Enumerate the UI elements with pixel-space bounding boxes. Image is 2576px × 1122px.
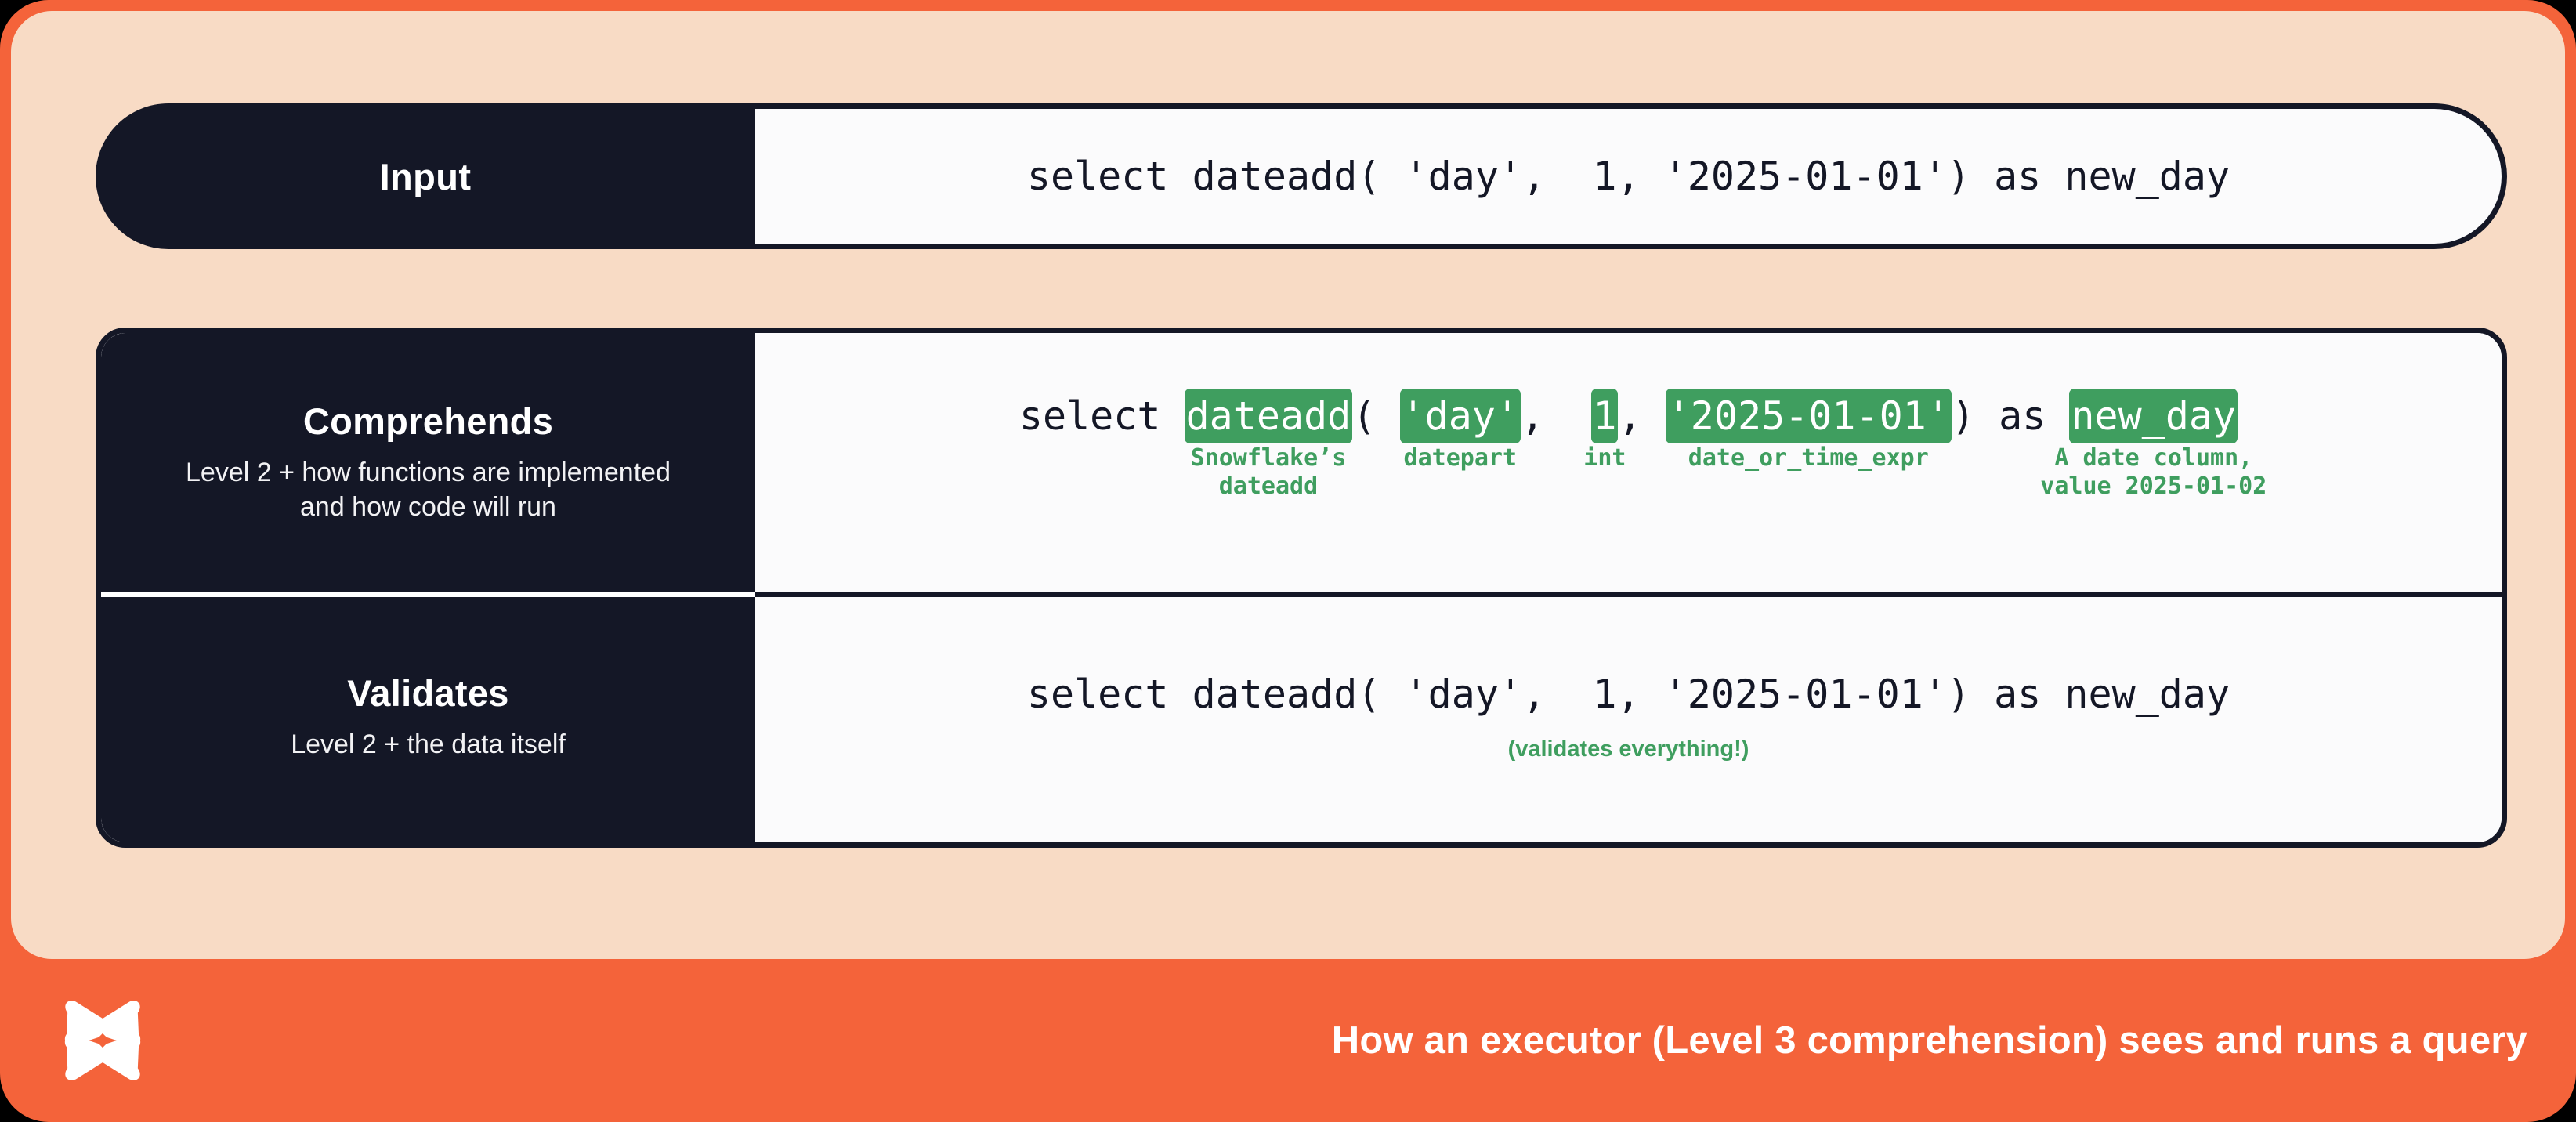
slide-root: Input select dateadd( 'day', 1, '2025-01… (0, 0, 2576, 1122)
x-mark-logo-icon (56, 994, 149, 1087)
comprehends-annotations: Snowflake’sdateadddatepartintdate_or_tim… (755, 444, 2502, 532)
code-token-9: new_day (2069, 389, 2238, 443)
input-row: Input select dateadd( 'day', 1, '2025-01… (96, 103, 2507, 249)
code-token-6: , (1618, 393, 1665, 439)
comprehends-title: Comprehends (303, 400, 553, 443)
comprehends-sublabel: Level 2 + how functions are implemented … (186, 456, 671, 524)
footer-bar: How an executor (Level 3 comprehension) … (0, 959, 2576, 1122)
row-divider (101, 592, 2502, 597)
comprehends-sublabel-line2: and how code will run (300, 492, 556, 522)
code-token-8: ) as (1952, 393, 2070, 439)
annotation-4-line2: value 2025-01-02 (2040, 472, 2267, 501)
comprehends-code: select dateadd( 'day', 1, '2025-01-01') … (1019, 393, 2238, 440)
input-row-code: select dateadd( 'day', 1, '2025-01-01') … (1027, 154, 2230, 200)
annotation-0-line1: Snowflake’s (1191, 444, 1347, 472)
input-row-label-cell: Input (96, 103, 755, 249)
input-row-title: Input (380, 155, 472, 198)
orange-frame: Input select dateadd( 'day', 1, '2025-01… (0, 0, 2576, 1122)
levels-rows: Comprehends Level 2 + how functions are … (101, 333, 2502, 842)
annotation-2: int (1583, 444, 1626, 472)
levels-card: Comprehends Level 2 + how functions are … (96, 328, 2507, 848)
validates-note: (validates everything!) (1508, 737, 1749, 762)
code-token-3: 'day' (1400, 389, 1521, 443)
input-row-code-cell: select dateadd( 'day', 1, '2025-01-01') … (755, 103, 2507, 249)
annotation-0-line2: dateadd (1191, 472, 1347, 501)
row-divider-right (755, 592, 2502, 597)
validates-sublabel: Level 2 + the data itself (291, 728, 566, 762)
code-token-4: , (1521, 393, 1591, 439)
validates-code-cell: select dateadd( 'day', 1, '2025-01-01') … (755, 592, 2502, 842)
comprehends-row: Comprehends Level 2 + how functions are … (101, 333, 2502, 592)
validates-title: Validates (347, 671, 509, 715)
content-panel: Input select dateadd( 'day', 1, '2025-01… (11, 11, 2565, 959)
validates-label-cell: Validates Level 2 + the data itself (101, 592, 755, 842)
levels-card-border: Comprehends Level 2 + how functions are … (96, 328, 2507, 848)
annotation-3: date_or_time_expr (1688, 444, 1929, 472)
code-token-7: '2025-01-01' (1666, 389, 1952, 443)
annotation-1: datepart (1404, 444, 1518, 472)
annotation-4-line1: A date column, (2040, 444, 2267, 472)
code-token-1: dateadd (1185, 389, 1353, 443)
annotation-2-line1: int (1583, 444, 1626, 472)
comprehends-label-cell: Comprehends Level 2 + how functions are … (101, 333, 755, 592)
code-token-5: 1 (1591, 389, 1618, 443)
comprehends-code-cell: select dateadd( 'day', 1, '2025-01-01') … (755, 333, 2502, 592)
validates-code: select dateadd( 'day', 1, '2025-01-01') … (1027, 671, 2230, 718)
annotation-1-line1: datepart (1404, 444, 1518, 472)
code-token-0: select (1019, 393, 1185, 439)
comprehends-sublabel-line1: Level 2 + how functions are implemented (186, 458, 671, 487)
footer-caption: How an executor (Level 3 comprehension) … (1332, 1019, 2527, 1062)
row-divider-left (101, 592, 755, 597)
annotation-3-line1: date_or_time_expr (1688, 444, 1929, 472)
validates-row: Validates Level 2 + the data itself sele… (101, 592, 2502, 842)
annotation-4: A date column,value 2025-01-02 (2040, 444, 2267, 501)
code-token-2: ( (1352, 393, 1399, 439)
annotation-0: Snowflake’sdateadd (1191, 444, 1347, 501)
